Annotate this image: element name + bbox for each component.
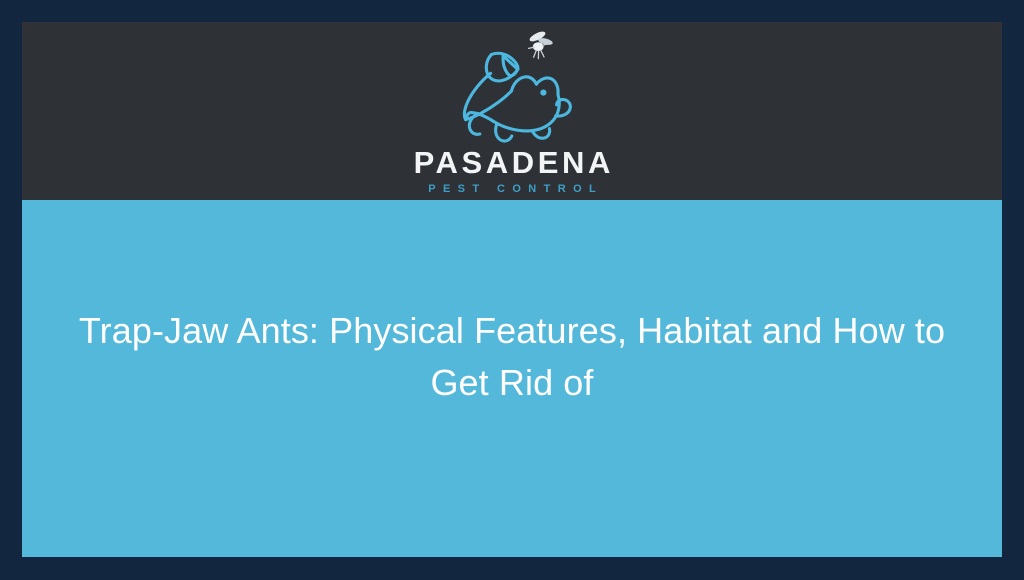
fly-icon [528, 30, 553, 59]
brand-tagline: PEST CONTROL [421, 182, 603, 196]
page-frame: PASADENA PEST CONTROL Trap-Jaw Ants: Phy… [0, 0, 1024, 580]
rodent-and-trap-line-art [464, 53, 570, 141]
article-title: Trap-Jaw Ants: Physical Features, Habita… [47, 305, 977, 453]
site-header: PASADENA PEST CONTROL [22, 22, 1002, 200]
brand-wordmark: PASADENA [410, 148, 614, 178]
hero-banner: Trap-Jaw Ants: Physical Features, Habita… [22, 200, 1002, 557]
article-card: PASADENA PEST CONTROL Trap-Jaw Ants: Phy… [22, 22, 1002, 557]
brand-logo[interactable]: PASADENA PEST CONTROL [397, 22, 627, 196]
pest-control-logo-icon [437, 24, 587, 150]
